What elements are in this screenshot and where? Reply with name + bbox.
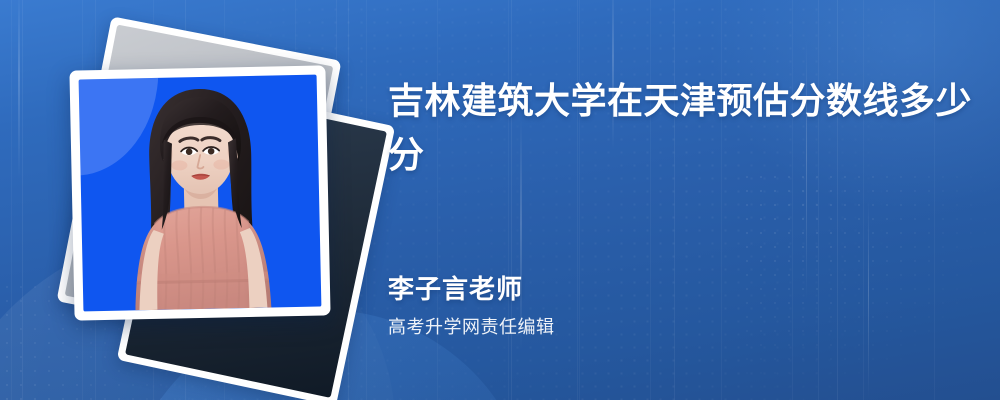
banner-text-column: 吉林建筑大学在天津预估分数线多少分 李子言老师 高考升学网责任编辑 [388, 0, 978, 400]
author-name: 李子言老师 [388, 272, 948, 306]
main-photo-frame [69, 65, 330, 320]
avatar [79, 75, 322, 312]
author-role: 高考升学网责任编辑 [388, 315, 948, 339]
background-light-streak [18, 0, 20, 180]
page-title: 吉林建筑大学在天津预估分数线多少分 [388, 74, 973, 182]
photo-frame-stack [48, 28, 348, 368]
byline: 李子言老师 高考升学网责任编辑 [388, 272, 948, 339]
portrait-illustration [79, 75, 322, 312]
article-header-banner: 吉林建筑大学在天津预估分数线多少分 李子言老师 高考升学网责任编辑 [0, 0, 1000, 400]
